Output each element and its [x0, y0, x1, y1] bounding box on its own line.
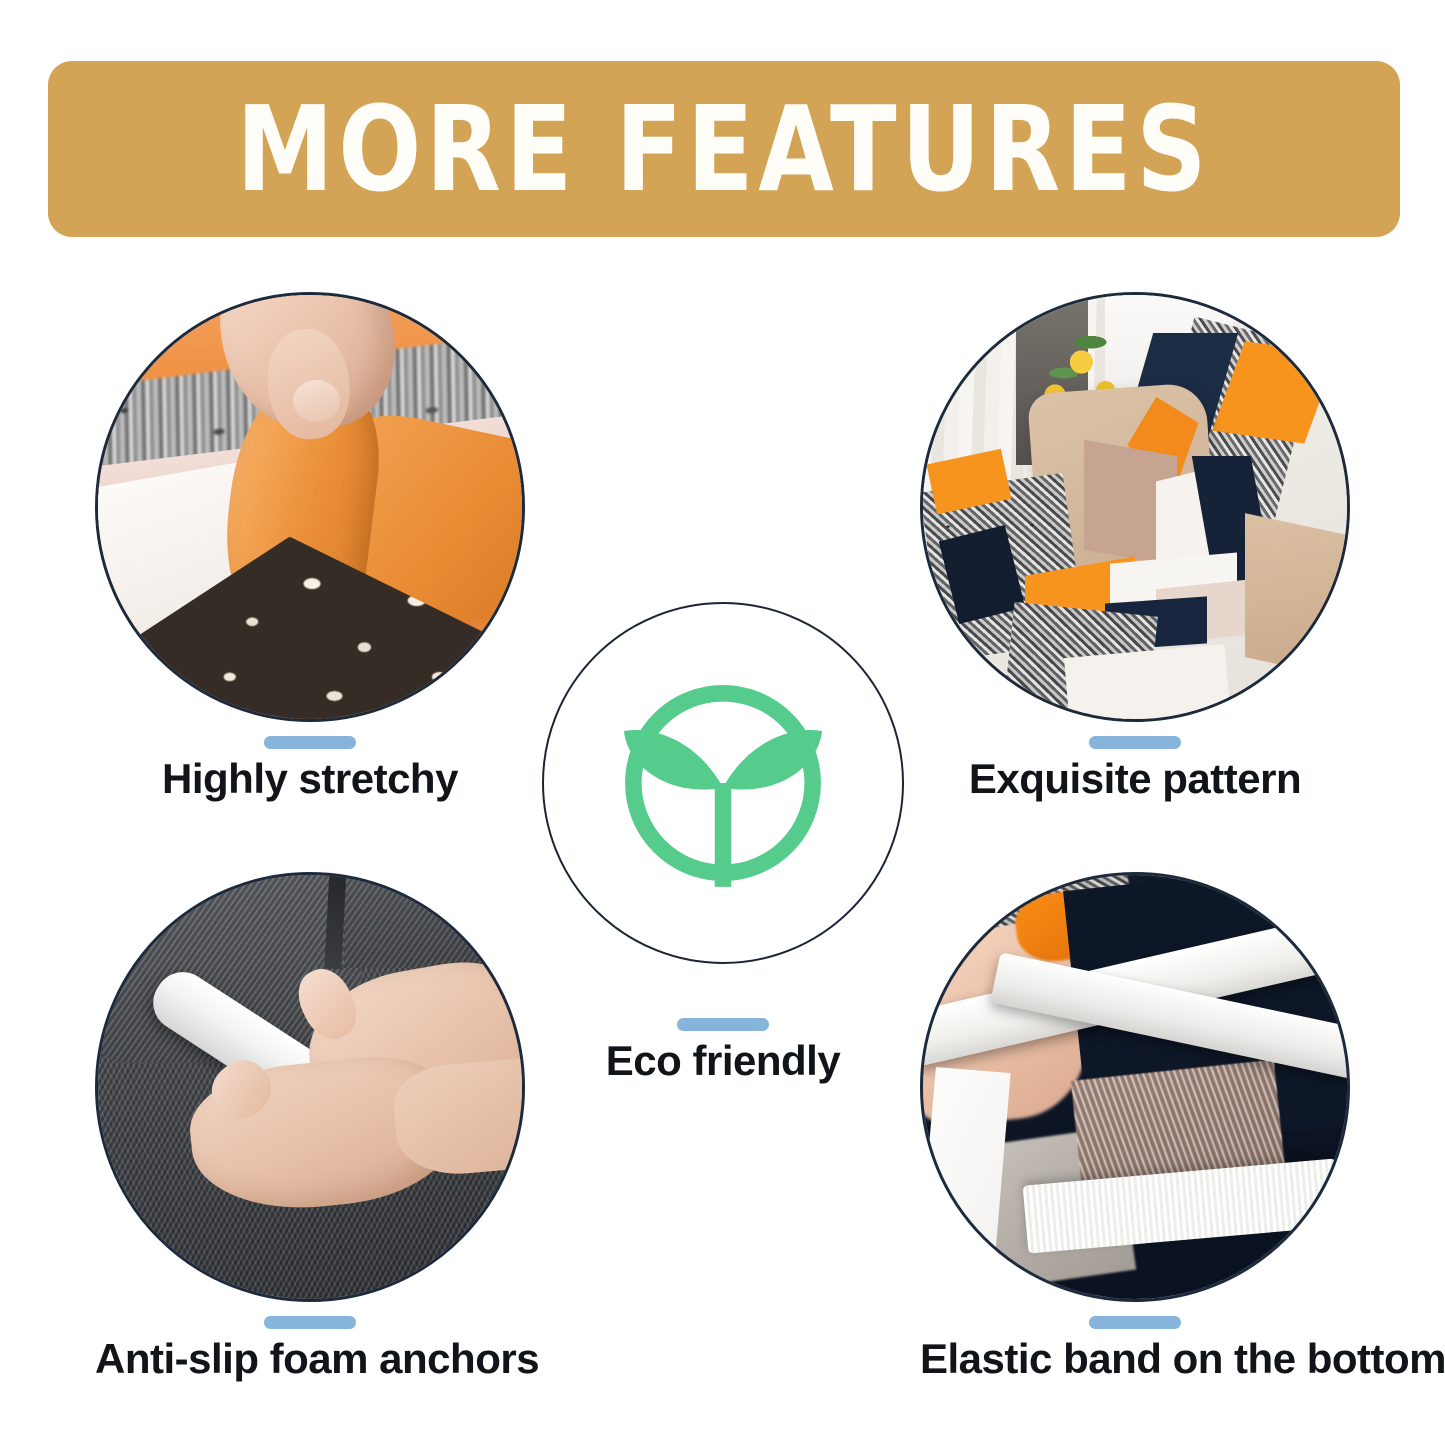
accent-pill-icon [1089, 1316, 1181, 1329]
feature-photo-elastic-band-bottom [920, 872, 1350, 1302]
accent-pill-icon [264, 1316, 356, 1329]
feature-label-exquisite-pattern: Exquisite pattern [920, 757, 1350, 801]
page-title: MORE FEATURES [237, 90, 1212, 208]
feature-label-eco-friendly: Eco friendly [542, 1039, 904, 1083]
infographic-page: MORE FEATURES Highly stretchy [0, 0, 1445, 1445]
feature-card-elastic-band-bottom: Elastic band on the bottom [920, 872, 1350, 1381]
eco-badge-circle [542, 602, 904, 964]
feature-photo-highly-stretchy [95, 292, 525, 722]
feature-card-anti-slip-foam-anchors: Anti-slip foam anchors [95, 872, 525, 1381]
feature-label-anti-slip-foam-anchors: Anti-slip foam anchors [95, 1337, 525, 1381]
accent-pill-icon [264, 736, 356, 749]
feature-card-highly-stretchy: Highly stretchy [95, 292, 525, 801]
caption-block-eco-friendly: Eco friendly [542, 1018, 904, 1083]
feature-label-elastic-band-bottom: Elastic band on the bottom [920, 1337, 1350, 1381]
caption-block-anti-slip-foam-anchors: Anti-slip foam anchors [95, 1316, 525, 1381]
caption-block-highly-stretchy: Highly stretchy [95, 736, 525, 801]
fingernail-shape [293, 380, 340, 422]
white-panel-bottom [1064, 644, 1231, 722]
feature-card-exquisite-pattern: Exquisite pattern [920, 292, 1350, 801]
caption-block-elastic-band-bottom: Elastic band on the bottom [920, 1316, 1350, 1381]
eco-sprout-icon [605, 665, 841, 901]
feature-photo-exquisite-pattern [920, 292, 1350, 722]
caption-block-exquisite-pattern: Exquisite pattern [920, 736, 1350, 801]
eco-friendly-badge [542, 602, 904, 964]
sofa-backrest-right [344, 875, 525, 968]
beige-panel-right [1245, 513, 1347, 679]
feature-label-highly-stretchy: Highly stretchy [95, 757, 525, 801]
accent-pill-icon [677, 1018, 769, 1031]
feature-photo-anti-slip-foam-anchors [95, 872, 525, 1302]
header-banner: MORE FEATURES [48, 61, 1400, 237]
accent-pill-icon [1089, 736, 1181, 749]
